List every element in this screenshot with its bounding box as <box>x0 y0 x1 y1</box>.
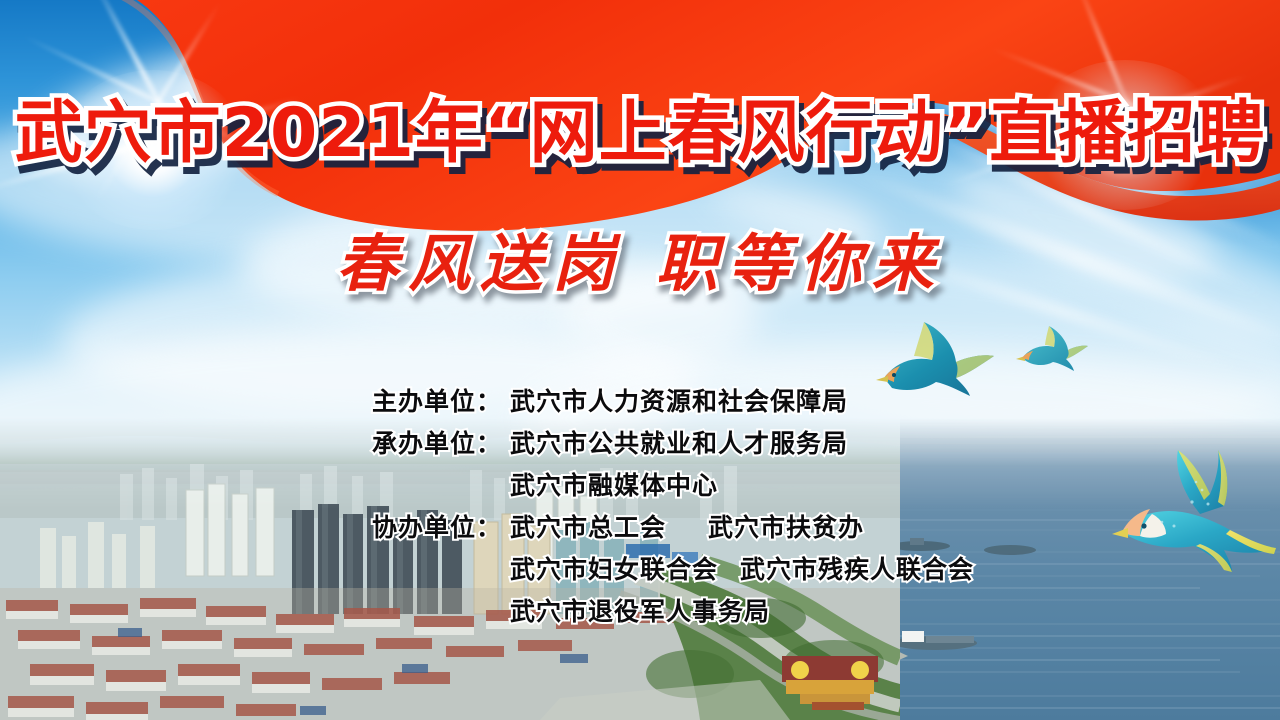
org-label: 协办单位： <box>372 508 510 544</box>
organizations-block: 主办单位： 武穴市人力资源和社会保障局 承办单位： 武穴市公共就业和人才服务局 … <box>0 382 1280 634</box>
org-row-cohost-cont-2: 武穴市退役军人事务局 <box>0 592 1280 634</box>
org-row-organizer-cont: 武穴市融媒体中心 <box>0 466 1280 508</box>
poster-subtitle: 春风送岗 职等你来 <box>0 228 1280 300</box>
poster-canvas: 武穴市2021年“网上春风行动”直播招聘 春风送岗 职等你来 主办单位： 武穴市… <box>0 0 1280 720</box>
org-value: 武穴市人力资源和社会保障局 <box>510 382 848 418</box>
org-value: 武穴市退役军人事务局 <box>510 592 770 628</box>
swallow-small-mid-icon <box>1014 324 1088 380</box>
org-value: 武穴市残疾人联合会 <box>740 550 974 586</box>
org-label: 承办单位： <box>372 424 510 460</box>
poster-title: 武穴市2021年“网上春风行动”直播招聘 <box>0 96 1280 172</box>
org-row-host: 主办单位： 武穴市人力资源和社会保障局 <box>0 382 1280 424</box>
org-value: 武穴市融媒体中心 <box>510 466 718 502</box>
org-row-cohost-cont-1: 武穴市妇女联合会 武穴市残疾人联合会 <box>0 550 1280 592</box>
org-value: 武穴市总工会 <box>510 508 666 544</box>
org-row-organizer: 承办单位： 武穴市公共就业和人才服务局 <box>0 424 1280 466</box>
org-label: 主办单位： <box>372 382 510 418</box>
org-value: 武穴市扶贫办 <box>708 508 864 544</box>
org-value: 武穴市妇女联合会 <box>510 550 718 586</box>
org-value: 武穴市公共就业和人才服务局 <box>510 424 848 460</box>
org-row-cohost: 协办单位： 武穴市总工会 武穴市扶贫办 <box>0 508 1280 550</box>
